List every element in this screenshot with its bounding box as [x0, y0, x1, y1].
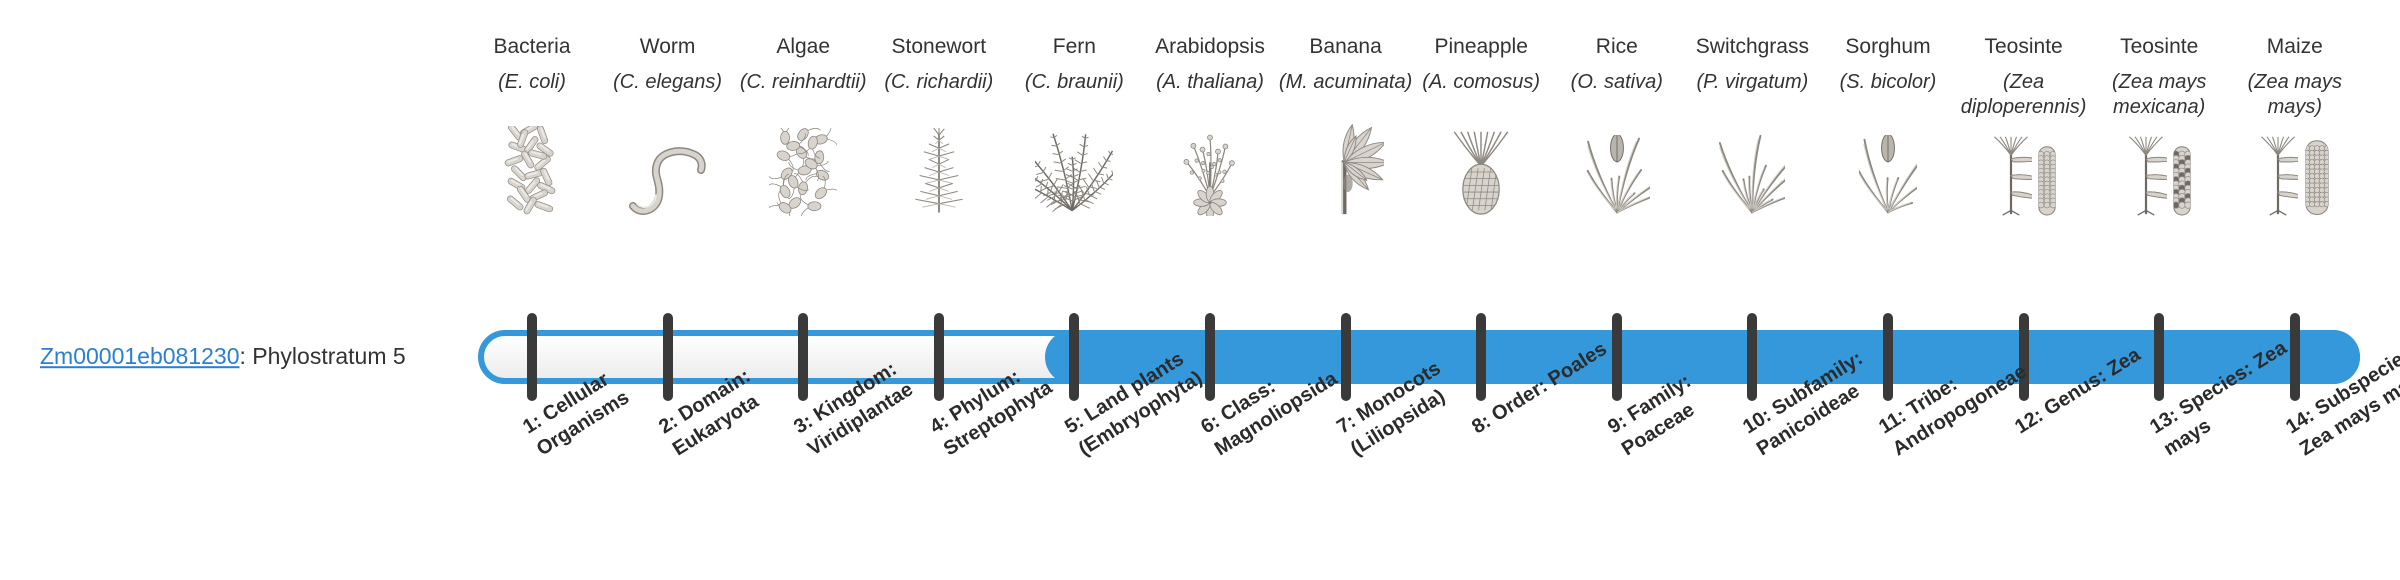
species-column-10: Switchgrass(P. virgatum) — [1684, 34, 1820, 216]
species-scientific-name: (C. richardii) — [871, 70, 1007, 120]
species-common-name: Rice — [1549, 34, 1685, 60]
species-scientific-name: (A. thaliana) — [1142, 70, 1278, 120]
species-common-name: Arabidopsis — [1142, 34, 1278, 60]
species-common-name: Sorghum — [1820, 34, 1956, 60]
sorghum-icon — [1820, 124, 1956, 216]
rank-number: 1: — [519, 410, 546, 438]
species-scientific-name: (E. coli) — [464, 70, 600, 120]
species-common-name: Pineapple — [1413, 34, 1549, 60]
bacteria-icon — [464, 124, 600, 216]
arabidopsis-icon — [1142, 124, 1278, 216]
species-common-name: Teosinte — [2091, 34, 2227, 60]
species-scientific-name: (A. comosus) — [1413, 70, 1549, 120]
teosinte-diplo-icon — [1956, 124, 2092, 216]
worm-icon — [600, 124, 736, 216]
rank-number: 2: — [655, 410, 682, 438]
rice-icon — [1549, 124, 1685, 216]
axis-tick-1 — [527, 313, 537, 401]
species-column-11: Sorghum(S. bicolor) — [1820, 34, 1956, 216]
species-column-5: Fern(C. braunii) — [1006, 34, 1142, 216]
species-common-name: Worm — [600, 34, 736, 60]
pineapple-icon — [1413, 124, 1549, 216]
species-scientific-name: (M. acuminata) — [1278, 70, 1414, 120]
species-scientific-name: (Zea diploperennis) — [1956, 70, 2092, 120]
rank-number: 7: — [1333, 410, 1360, 438]
phylostratum-value: Phylostratum 5 — [252, 343, 405, 369]
species-common-name: Teosinte — [1956, 34, 2092, 60]
fern-icon — [1006, 124, 1142, 216]
species-column-1: Bacteria(E. coli) — [464, 34, 600, 216]
species-common-name: Maize — [2227, 34, 2363, 60]
species-common-name: Algae — [735, 34, 871, 60]
species-scientific-name: (Zea mays mays) — [2227, 70, 2363, 120]
maize-icon — [2227, 124, 2363, 216]
species-scientific-name: (C. reinhardtii) — [735, 70, 871, 120]
gene-label-separator: : — [240, 343, 253, 369]
species-scientific-name: (S. bicolor) — [1820, 70, 1956, 120]
species-scientific-name: (O. sativa) — [1549, 70, 1685, 120]
gene-phylostratum-label: Zm00001eb081230: Phylostratum 5 — [40, 343, 406, 371]
species-column-4: Stonewort(C. richardii) — [871, 34, 1007, 216]
species-column-13: Teosinte(Zea mays mexicana) — [2091, 34, 2227, 216]
species-common-name: Switchgrass — [1684, 34, 1820, 60]
species-column-12: Teosinte(Zea diploperennis) — [1956, 34, 2092, 216]
species-column-9: Rice(O. sativa) — [1549, 34, 1685, 216]
species-column-3: Algae(C. reinhardtii) — [735, 34, 871, 216]
stonewort-icon — [871, 124, 1007, 216]
rank-number: 6: — [1197, 410, 1224, 438]
rank-number: 12: — [2011, 404, 2047, 438]
species-column-7: Banana(M. acuminata) — [1278, 34, 1414, 216]
species-scientific-name: (C. braunii) — [1006, 70, 1142, 120]
species-scientific-name: (Zea mays mexicana) — [2091, 70, 2227, 120]
gene-id-link[interactable]: Zm00001eb081230 — [40, 343, 240, 369]
species-common-name: Stonewort — [871, 34, 1007, 60]
algae-icon — [735, 124, 871, 216]
species-common-name: Banana — [1278, 34, 1414, 60]
species-common-name: Fern — [1006, 34, 1142, 60]
species-column-2: Worm(C. elegans) — [600, 34, 736, 216]
rank-number: 4: — [926, 410, 953, 438]
switchgrass-icon — [1684, 124, 1820, 216]
species-scientific-name: (C. elegans) — [600, 70, 736, 120]
species-scientific-name: (P. virgatum) — [1684, 70, 1820, 120]
rank-number: 9: — [1604, 410, 1631, 438]
species-column-8: Pineapple(A. comosus) — [1413, 34, 1549, 216]
teosinte-mex-icon — [2091, 124, 2227, 216]
species-common-name: Bacteria — [464, 34, 600, 60]
banana-icon — [1278, 124, 1414, 216]
species-column-14: Maize(Zea mays mays) — [2227, 34, 2363, 216]
species-column-6: Arabidopsis(A. thaliana) — [1142, 34, 1278, 216]
